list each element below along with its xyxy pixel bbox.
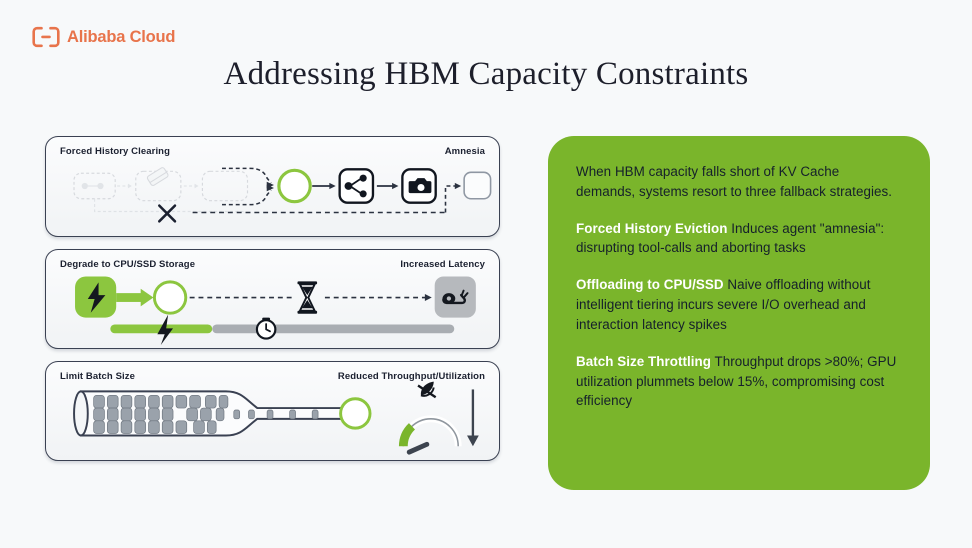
- explanation-panel: When HBM capacity falls short of KV Cach…: [548, 136, 930, 490]
- panel-paragraph-offloading-to-cpu-ssd: Offloading to CPU/SSD Naive offloading w…: [576, 275, 902, 334]
- diagram-card-limit-batch-size: Limit Batch Size Reduced Throughput/Util…: [45, 361, 500, 461]
- diagram-card-1-graphic: [46, 137, 499, 236]
- page-title: Addressing HBM Capacity Constraints: [0, 56, 972, 93]
- diagram-card-degrade-to-cpu-ssd-storage: Degrade to CPU/SSD Storage Increased Lat…: [45, 249, 500, 349]
- panel-keyword-forced-history-eviction: Forced History Eviction: [576, 221, 727, 236]
- panel-paragraph-batch-size-throttling: Batch Size Throttling Throughput drops >…: [576, 352, 902, 411]
- panel-paragraph-0-text: When HBM capacity falls short of KV Cach…: [576, 164, 892, 199]
- diagram-card-3-graphic: [46, 362, 499, 460]
- alibaba-cloud-logo-icon: [32, 26, 60, 48]
- panel-paragraph-intro: When HBM capacity falls short of KV Cach…: [576, 162, 902, 202]
- panel-paragraph-forced-history-eviction: Forced History Eviction Induces agent "a…: [576, 219, 902, 259]
- panel-keyword-batch-size-throttling: Batch Size Throttling: [576, 354, 711, 369]
- diagram-card-forced-history-clearing: Forced History Clearing Amnesia: [45, 136, 500, 237]
- brand-logo: Alibaba Cloud: [32, 26, 175, 48]
- brand-name: Alibaba Cloud: [67, 28, 175, 47]
- panel-keyword-offloading-to-cpu-ssd: Offloading to CPU/SSD: [576, 277, 724, 292]
- diagram-column: Forced History Clearing Amnesia: [45, 136, 500, 473]
- diagram-card-2-graphic: [46, 250, 499, 348]
- slide-root: Alibaba Cloud Addressing HBM Capacity Co…: [0, 0, 972, 548]
